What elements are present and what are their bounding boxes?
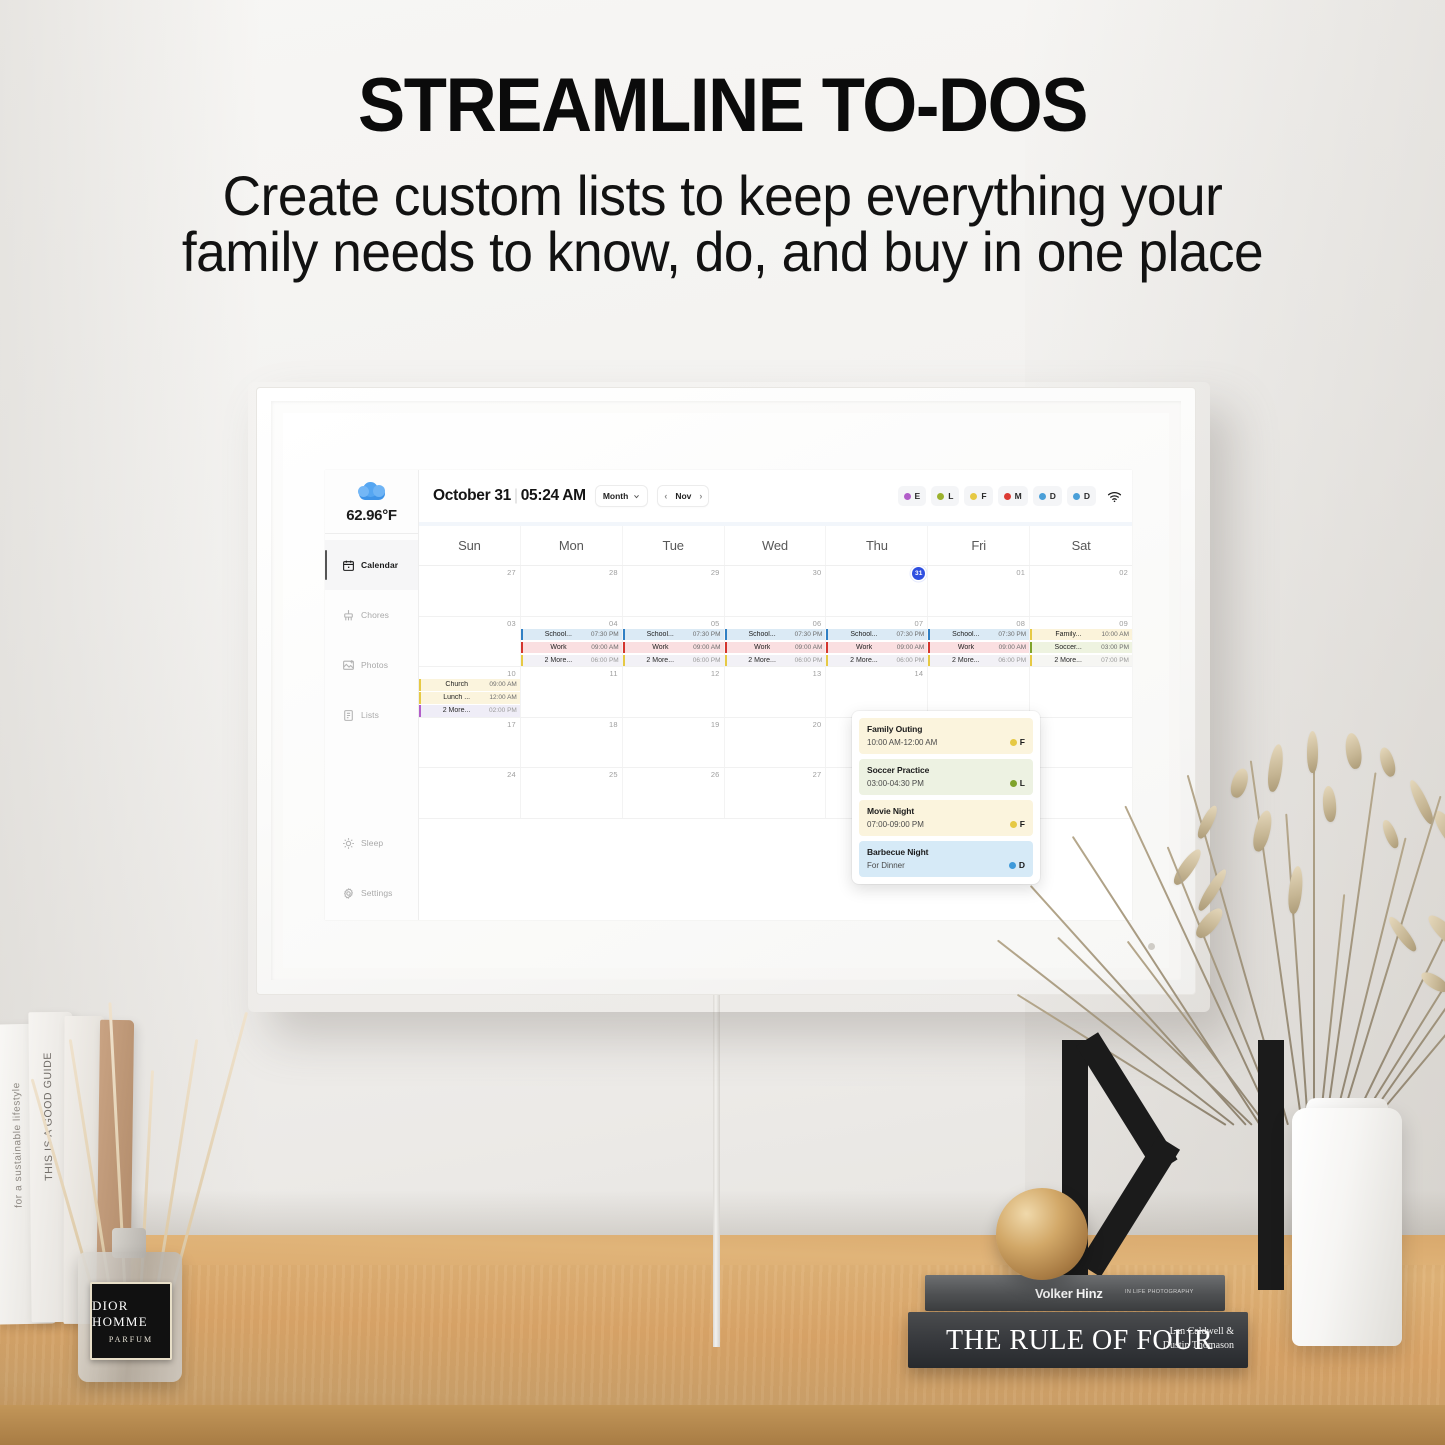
calendar-day-cell[interactable]: 05School...07:30 PMWork09:00 AM2 More...…	[623, 617, 725, 667]
event-title: School...	[952, 631, 979, 638]
prev-month-button[interactable]: ‹	[664, 492, 667, 501]
event-title: 2 More...	[545, 657, 573, 664]
event-more-link[interactable]: 2 More...07:00 PM	[1030, 655, 1132, 667]
event-time: 09:00 AM	[897, 644, 924, 651]
promo-subheadline-line2: family needs to know, do, and buy in one…	[36, 224, 1409, 280]
event-pill[interactable]: Church09:00 AM	[419, 679, 520, 691]
member-initial: E	[915, 491, 921, 501]
day-number: 07	[915, 619, 924, 628]
calendar-day-cell[interactable]: 13	[725, 667, 827, 717]
event-color-accent	[1030, 655, 1032, 667]
event-time: 09:00 AM	[489, 681, 516, 688]
event-detail-meta: 03:00-04:30 PML	[867, 778, 1025, 788]
event-detail-card[interactable]: Movie Night07:00-09:00 PMF	[859, 800, 1033, 836]
day-events: Church09:00 AMLunch ...12:00 AM2 More...…	[419, 679, 520, 717]
list-icon	[342, 709, 355, 722]
day-number: 27	[813, 770, 822, 779]
calendar-week-row: 0304School...07:30 PMWork09:00 AM2 More.…	[419, 617, 1132, 668]
event-detail-time: For Dinner	[867, 861, 905, 870]
current-time: 05:24 AM	[521, 487, 586, 504]
member-initial: L	[948, 491, 953, 501]
photo-add-icon	[342, 659, 355, 672]
event-title: 2 More...	[646, 657, 674, 664]
sidebar-item-label: Lists	[361, 710, 379, 720]
member-initial: F	[1020, 819, 1025, 829]
event-pill[interactable]: Work09:00 AM	[928, 642, 1029, 654]
event-color-accent	[623, 629, 625, 641]
event-pill[interactable]: Lunch ...12:00 AM	[419, 692, 520, 704]
event-time: 06:00 PM	[896, 657, 924, 664]
calendar-day-cell[interactable]: 18	[521, 718, 623, 768]
day-number: 19	[711, 720, 720, 729]
member-chip-m[interactable]: M	[998, 486, 1028, 506]
event-pill[interactable]: Family...10:00 AM	[1030, 629, 1132, 641]
calendar-icon	[342, 559, 355, 572]
day-number: 08	[1016, 619, 1025, 628]
sidebar-item-photos[interactable]: Photos	[325, 640, 418, 690]
diffuser-brand: DIOR HOMME	[92, 1298, 170, 1330]
grass-stem	[1325, 772, 1377, 1125]
event-title: Soccer...	[1055, 644, 1082, 651]
letter-m-stroke	[1258, 1040, 1284, 1290]
day-number: 20	[813, 720, 822, 729]
event-time: 09:00 AM	[795, 644, 822, 651]
member-chip-d1[interactable]: D	[1033, 486, 1062, 506]
diffuser-type: PARFUM	[109, 1335, 153, 1344]
sidebar-item-label: Sleep	[361, 838, 383, 848]
member-color-dot	[1010, 739, 1017, 746]
event-pill[interactable]: Work09:00 AM	[521, 642, 622, 654]
event-time: 07:00 PM	[1101, 657, 1129, 664]
grass-stem	[1369, 933, 1445, 1126]
event-pill[interactable]: School...07:30 PM	[623, 629, 724, 641]
event-color-accent	[521, 655, 523, 667]
next-month-button[interactable]: ›	[699, 492, 702, 501]
calendar-day-cell[interactable]: 27	[419, 566, 521, 616]
grass-seed-head	[1266, 744, 1286, 793]
event-more-link[interactable]: 2 More...02:00 PM	[419, 705, 520, 717]
calendar-day-cell[interactable]: 29	[623, 566, 725, 616]
event-pill[interactable]: School...07:30 PM	[725, 629, 826, 641]
grass-seed-head	[1380, 818, 1401, 850]
member-initial: D	[1050, 491, 1056, 501]
calendar-day-cell[interactable]: 06School...07:30 PMWork09:00 AM2 More...…	[725, 617, 827, 667]
sidebar-item-label: Chores	[361, 610, 389, 620]
weekday-header-row: Sun Mon Tue Wed Thu Fri Sat	[419, 526, 1132, 566]
event-pill[interactable]: School...07:30 PM	[928, 629, 1029, 641]
event-color-accent	[623, 655, 625, 667]
sun-icon	[342, 837, 355, 850]
event-time: 10:00 AM	[1102, 631, 1129, 638]
book-right-bottom: THE RULE OF FOUR Lan Caldwell &Dustin Th…	[908, 1312, 1248, 1368]
event-time: 06:00 PM	[591, 657, 619, 664]
day-events: School...07:30 PMWork09:00 AM2 More...06…	[826, 629, 927, 667]
calendar-day-cell[interactable]: 20	[725, 718, 827, 768]
event-color-accent	[826, 655, 828, 667]
day-number: 30	[813, 568, 822, 577]
event-detail-time: 10:00 AM-12:00 AM	[867, 738, 937, 747]
event-time: 02:00 PM	[489, 707, 517, 714]
book-title: Volker Hinz	[1035, 1286, 1103, 1301]
calendar-day-cell[interactable]	[1030, 718, 1132, 768]
sidebar-item-label: Calendar	[361, 560, 398, 570]
datetime-display: October 31|05:24 AM	[433, 487, 586, 505]
member-chip-f[interactable]: F	[964, 486, 992, 506]
event-color-accent	[419, 705, 421, 717]
member-initial: M	[1015, 491, 1022, 501]
event-title: Work	[958, 644, 974, 651]
chevron-down-icon	[633, 493, 640, 500]
weekday-wed: Wed	[725, 526, 827, 565]
event-detail-time: 07:00-09:00 PM	[867, 820, 924, 829]
day-number: 14	[915, 669, 924, 678]
calendar-day-cell[interactable]: 04School...07:30 PMWork09:00 AM2 More...…	[521, 617, 623, 667]
event-color-accent	[928, 655, 930, 667]
member-initial: L	[1020, 778, 1025, 788]
sidebar-item-chores[interactable]: Chores	[325, 590, 418, 640]
member-color-dot	[1010, 821, 1017, 828]
day-events: School...07:30 PMWork09:00 AM2 More...06…	[623, 629, 724, 667]
member-chip-l[interactable]: L	[931, 486, 959, 506]
sidebar-item-settings[interactable]: Settings	[325, 868, 418, 918]
event-color-accent	[521, 629, 523, 641]
event-detail-meta: 10:00 AM-12:00 AMF	[867, 737, 1025, 747]
event-time: 07:30 PM	[896, 631, 924, 638]
book-right-top: Volker Hinz IN LIFE PHOTOGRAPHY	[925, 1275, 1225, 1311]
sidebar-item-sleep[interactable]: Sleep	[325, 818, 418, 868]
calendar-day-cell[interactable]: 17	[419, 718, 521, 768]
white-ceramic-vase	[1292, 1108, 1402, 1346]
event-time: 07:30 PM	[693, 631, 721, 638]
letter-m-stroke	[1079, 1136, 1181, 1277]
event-title: School...	[647, 631, 674, 638]
day-number: 27	[507, 568, 516, 577]
calendar-day-cell[interactable]: 11	[521, 667, 623, 717]
member-initial: D	[1019, 860, 1025, 870]
event-detail-meta: 07:00-09:00 PMF	[867, 819, 1025, 829]
day-number: 17	[507, 720, 516, 729]
calendar-day-cell[interactable]: 03	[419, 617, 521, 667]
event-title: Work	[856, 644, 872, 651]
event-more-link[interactable]: 2 More...06:00 PM	[521, 655, 622, 667]
weekday-tue: Tue	[623, 526, 725, 565]
day-number: 01	[1016, 568, 1025, 577]
member-initial: F	[981, 491, 986, 501]
weekday-sat: Sat	[1030, 526, 1132, 565]
calendar-day-cell[interactable]: 30	[725, 566, 827, 616]
desk-front-face	[0, 1405, 1445, 1445]
event-time: 12:00 AM	[489, 694, 516, 701]
calendar-week-row: 10Church09:00 AMLunch ...12:00 AM2 More.…	[419, 667, 1132, 718]
gold-sphere-decor	[996, 1188, 1088, 1280]
event-title: 2 More...	[1054, 657, 1082, 664]
weekday-sun: Sun	[419, 526, 521, 565]
day-number: 10	[507, 669, 516, 678]
grass-seed-head	[1228, 766, 1251, 799]
event-color-accent	[826, 642, 828, 654]
event-more-link[interactable]: 2 More...06:00 PM	[826, 655, 927, 667]
grass-seed-head	[1322, 785, 1337, 822]
event-more-link[interactable]: 2 More...06:00 PM	[623, 655, 724, 667]
calendar-day-cell[interactable]: 10Church09:00 AMLunch ...12:00 AM2 More.…	[419, 667, 521, 717]
event-time: 06:00 PM	[795, 657, 823, 664]
event-detail-card[interactable]: Soccer Practice03:00-04:30 PML	[859, 759, 1033, 795]
grass-seed-head	[1251, 809, 1276, 853]
day-number: 26	[711, 770, 720, 779]
calendar-day-cell[interactable]: 14	[826, 667, 928, 717]
view-select-label: Month	[603, 491, 629, 501]
day-number: 03	[507, 619, 516, 628]
calendar-day-cell[interactable]: 19	[623, 718, 725, 768]
grass-seed-head	[1344, 732, 1364, 770]
member-color-dot	[904, 493, 911, 500]
weekday-fri: Fri	[928, 526, 1030, 565]
promo-headline: STREAMLINE TO-DOS	[51, 62, 1395, 149]
view-select-month[interactable]: Month	[595, 485, 649, 507]
sidebar-nav: Calendar Chores Photos	[325, 540, 418, 918]
event-pill[interactable]: Work09:00 AM	[623, 642, 724, 654]
event-detail-owner: F	[1010, 737, 1025, 747]
event-time: 09:00 AM	[999, 644, 1026, 651]
event-color-accent	[928, 629, 930, 641]
event-color-accent	[419, 692, 421, 704]
event-title: Work	[550, 644, 566, 651]
event-time: 09:00 AM	[693, 644, 720, 651]
day-number: 05	[711, 619, 720, 628]
event-color-accent	[725, 655, 727, 667]
event-title: 2 More...	[850, 657, 878, 664]
member-chip-d2[interactable]: D	[1067, 486, 1096, 506]
gear-icon	[342, 887, 355, 900]
cloud-icon	[355, 480, 389, 502]
power-cable	[713, 995, 720, 1347]
day-number: 28	[609, 568, 618, 577]
member-color-dot	[1073, 493, 1080, 500]
device-sensor-dot	[1148, 943, 1155, 950]
calendar-day-cell[interactable]: 01	[928, 566, 1030, 616]
event-color-accent	[725, 629, 727, 641]
calendar-day-cell[interactable]	[928, 667, 1030, 717]
event-title: School...	[850, 631, 877, 638]
event-title: School...	[748, 631, 775, 638]
event-pill[interactable]: Work09:00 AM	[725, 642, 826, 654]
calendar-day-cell[interactable]: 26	[623, 768, 725, 818]
member-color-dot	[1004, 493, 1011, 500]
day-number: 18	[609, 720, 618, 729]
calendar-day-cell[interactable]: 28	[521, 566, 623, 616]
event-detail-popover: Family Outing10:00 AM-12:00 AMFSoccer Pr…	[852, 711, 1040, 884]
sidebar-spacer	[325, 740, 418, 818]
promo-subheadline-line1: Create custom lists to keep everything y…	[36, 168, 1409, 224]
event-title: 2 More...	[443, 707, 471, 714]
calendar-day-cell[interactable]: 31	[826, 566, 928, 616]
day-events: School...07:30 PMWork09:00 AM2 More...06…	[521, 629, 622, 667]
event-color-accent	[1030, 642, 1032, 654]
day-number: 13	[813, 669, 822, 678]
sidebar-item-calendar[interactable]: Calendar	[325, 540, 418, 590]
current-date: October 31	[433, 487, 511, 504]
diffuser-label: DIOR HOMME PARFUM	[90, 1282, 172, 1360]
event-pill[interactable]: Soccer...03:00 PM	[1030, 642, 1132, 654]
calendar-day-cell[interactable]: 08School...07:30 PMWork09:00 AM2 More...…	[928, 617, 1030, 667]
day-number: 12	[711, 669, 720, 678]
member-color-dot	[1010, 780, 1017, 787]
event-more-link[interactable]: 2 More...06:00 PM	[725, 655, 826, 667]
calendar-day-cell[interactable]: 12	[623, 667, 725, 717]
event-more-link[interactable]: 2 More...06:00 PM	[928, 655, 1029, 667]
book-subtitle: IN LIFE PHOTOGRAPHY	[1125, 1289, 1194, 1295]
book-authors: Lan Caldwell &Dustin Thomason	[1163, 1325, 1234, 1352]
event-detail-meta: For DinnerD	[867, 860, 1025, 870]
calendar-day-cell[interactable]: 09Family...10:00 AMSoccer...03:00 PM2 Mo…	[1030, 617, 1132, 667]
weekday-thu: Thu	[826, 526, 928, 565]
member-color-dot	[1009, 862, 1016, 869]
calendar-day-cell[interactable]	[1030, 667, 1132, 717]
grass-seed-head	[1377, 746, 1398, 778]
calendar-day-cell[interactable]	[1030, 768, 1132, 818]
event-time: 06:00 PM	[693, 657, 721, 664]
month-navigator[interactable]: ‹ Nov ›	[657, 485, 709, 507]
calendar-day-cell[interactable]: 24	[419, 768, 521, 818]
calendar-day-cell[interactable]: 27	[725, 768, 827, 818]
topbar: October 31|05:24 AM Month ‹ Nov › E L	[419, 470, 1132, 522]
current-month-label: Nov	[675, 491, 691, 501]
event-color-accent	[623, 642, 625, 654]
event-detail-owner: F	[1010, 819, 1025, 829]
event-time: 07:30 PM	[591, 631, 619, 638]
sidebar-item-lists[interactable]: Lists	[325, 690, 418, 740]
event-title: 2 More...	[748, 657, 776, 664]
day-number: 29	[711, 568, 720, 577]
grass-seed-head	[1307, 731, 1318, 773]
sidebar: 62.96°F Calendar Chores	[325, 470, 419, 920]
event-detail-owner: L	[1010, 778, 1025, 788]
event-time: 07:30 PM	[998, 631, 1026, 638]
sidebar-item-label: Photos	[361, 660, 388, 670]
event-pill[interactable]: School...07:30 PM	[826, 629, 927, 641]
sidebar-divider	[325, 533, 418, 534]
member-chip-e[interactable]: E	[898, 486, 927, 506]
day-events: School...07:30 PMWork09:00 AM2 More...06…	[725, 629, 826, 667]
calendar-day-cell[interactable]: 02	[1030, 566, 1132, 616]
grass-seed-head	[1424, 911, 1445, 955]
member-color-dot	[937, 493, 944, 500]
event-detail-time: 03:00-04:30 PM	[867, 779, 924, 788]
event-detail-title: Family Outing	[867, 724, 1025, 734]
event-time: 09:00 AM	[591, 644, 618, 651]
day-number: 24	[507, 770, 516, 779]
event-title: School...	[545, 631, 572, 638]
day-number: 06	[813, 619, 822, 628]
calendar-day-cell[interactable]: 25	[521, 768, 623, 818]
grass-stem	[1313, 759, 1315, 1125]
day-number: 25	[609, 770, 618, 779]
letter-m-decor	[1062, 1040, 1292, 1290]
event-title: Family...	[1055, 631, 1081, 638]
event-color-accent	[419, 679, 421, 691]
weekday-mon: Mon	[521, 526, 623, 565]
member-initial: D	[1084, 491, 1090, 501]
event-title: Work	[652, 644, 668, 651]
book-title: for a sustainable lifestyle	[11, 1082, 25, 1208]
event-color-accent	[1030, 629, 1032, 641]
day-number: 04	[609, 619, 618, 628]
event-title: Church	[445, 681, 468, 688]
member-initial: F	[1020, 737, 1025, 747]
event-time: 03:00 PM	[1101, 644, 1129, 651]
day-events: School...07:30 PMWork09:00 AM2 More...06…	[928, 629, 1029, 667]
weather-widget[interactable]: 62.96°F	[325, 470, 418, 524]
broom-icon	[342, 609, 355, 622]
event-title: 2 More...	[952, 657, 980, 664]
day-number: 02	[1119, 568, 1128, 577]
day-events: Family...10:00 AMSoccer...03:00 PM2 More…	[1030, 629, 1132, 667]
event-time: 06:00 PM	[998, 657, 1026, 664]
event-detail-card[interactable]: Barbecue NightFor DinnerD	[859, 841, 1033, 877]
event-title: Work	[754, 644, 770, 651]
member-color-dot	[970, 493, 977, 500]
promo-subheadline: Create custom lists to keep everything y…	[36, 168, 1409, 280]
event-pill[interactable]: Work09:00 AM	[826, 642, 927, 654]
wifi-icon[interactable]	[1107, 490, 1122, 503]
event-detail-title: Soccer Practice	[867, 765, 1025, 775]
calendar-week-row: 27282930310102	[419, 566, 1132, 617]
event-title: Lunch ...	[443, 694, 470, 701]
event-detail-card[interactable]: Family Outing10:00 AM-12:00 AMF	[859, 718, 1033, 754]
event-color-accent	[521, 642, 523, 654]
event-detail-title: Movie Night	[867, 806, 1025, 816]
event-color-accent	[725, 642, 727, 654]
day-number: 09	[1119, 619, 1128, 628]
event-pill[interactable]: School...07:30 PM	[521, 629, 622, 641]
day-number: 11	[610, 669, 618, 678]
event-color-accent	[826, 629, 828, 641]
member-color-dot	[1039, 493, 1046, 500]
weather-temperature: 62.96°F	[325, 507, 418, 524]
event-detail-owner: D	[1009, 860, 1025, 870]
event-color-accent	[928, 642, 930, 654]
member-filter-list: E L F M D D	[898, 486, 1122, 506]
event-detail-title: Barbecue Night	[867, 847, 1025, 857]
event-time: 07:30 PM	[795, 631, 823, 638]
calendar-day-cell[interactable]: 07School...07:30 PMWork09:00 AM2 More...…	[826, 617, 928, 667]
sidebar-item-label: Settings	[361, 888, 393, 898]
day-number-today: 31	[912, 567, 925, 580]
